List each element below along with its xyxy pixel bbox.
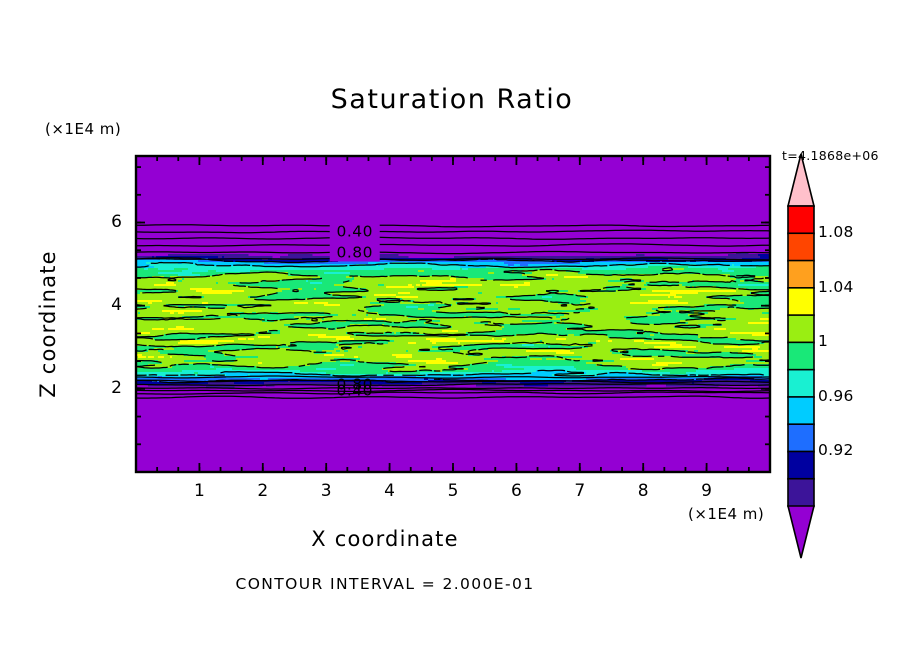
contour-label: 0.40 [336, 382, 373, 400]
x-axis-unit-label: (×1E4 m) [688, 505, 764, 523]
contour-label: 0.40 [336, 223, 373, 241]
page-title: Saturation Ratio [0, 84, 904, 115]
x-tick-label: 3 [311, 481, 341, 501]
x-tick-label: 7 [565, 481, 595, 501]
x-axis-title: X coordinate [0, 527, 770, 551]
x-tick-label: 5 [438, 481, 468, 501]
x-tick-label: 2 [248, 481, 278, 501]
y-tick-label: 2 [92, 378, 122, 398]
y-axis-unit-label: (×1E4 m) [45, 120, 121, 138]
colorbar-tick-label: 1.04 [818, 278, 854, 296]
y-axis-title: Z coordinate [36, 214, 60, 434]
x-tick-label: 9 [692, 481, 722, 501]
colorbar [788, 154, 814, 558]
colorbar-tick-label: 0.92 [818, 441, 854, 459]
colorbar-tick-label: 1 [818, 332, 828, 350]
x-tick-label: 8 [628, 481, 658, 501]
contour-interval-caption: CONTOUR INTERVAL = 2.000E-01 [0, 575, 770, 593]
time-annotation: t=4.1868e+06 [782, 148, 879, 163]
x-tick-label: 6 [501, 481, 531, 501]
x-tick-label: 1 [184, 481, 214, 501]
x-tick-label: 4 [375, 481, 405, 501]
y-tick-label: 6 [92, 212, 122, 232]
contour-label: 0.80 [336, 243, 373, 261]
y-tick-label: 4 [92, 295, 122, 315]
colorbar-tick-label: 0.96 [818, 387, 854, 405]
colorbar-tick-label: 1.08 [818, 223, 854, 241]
